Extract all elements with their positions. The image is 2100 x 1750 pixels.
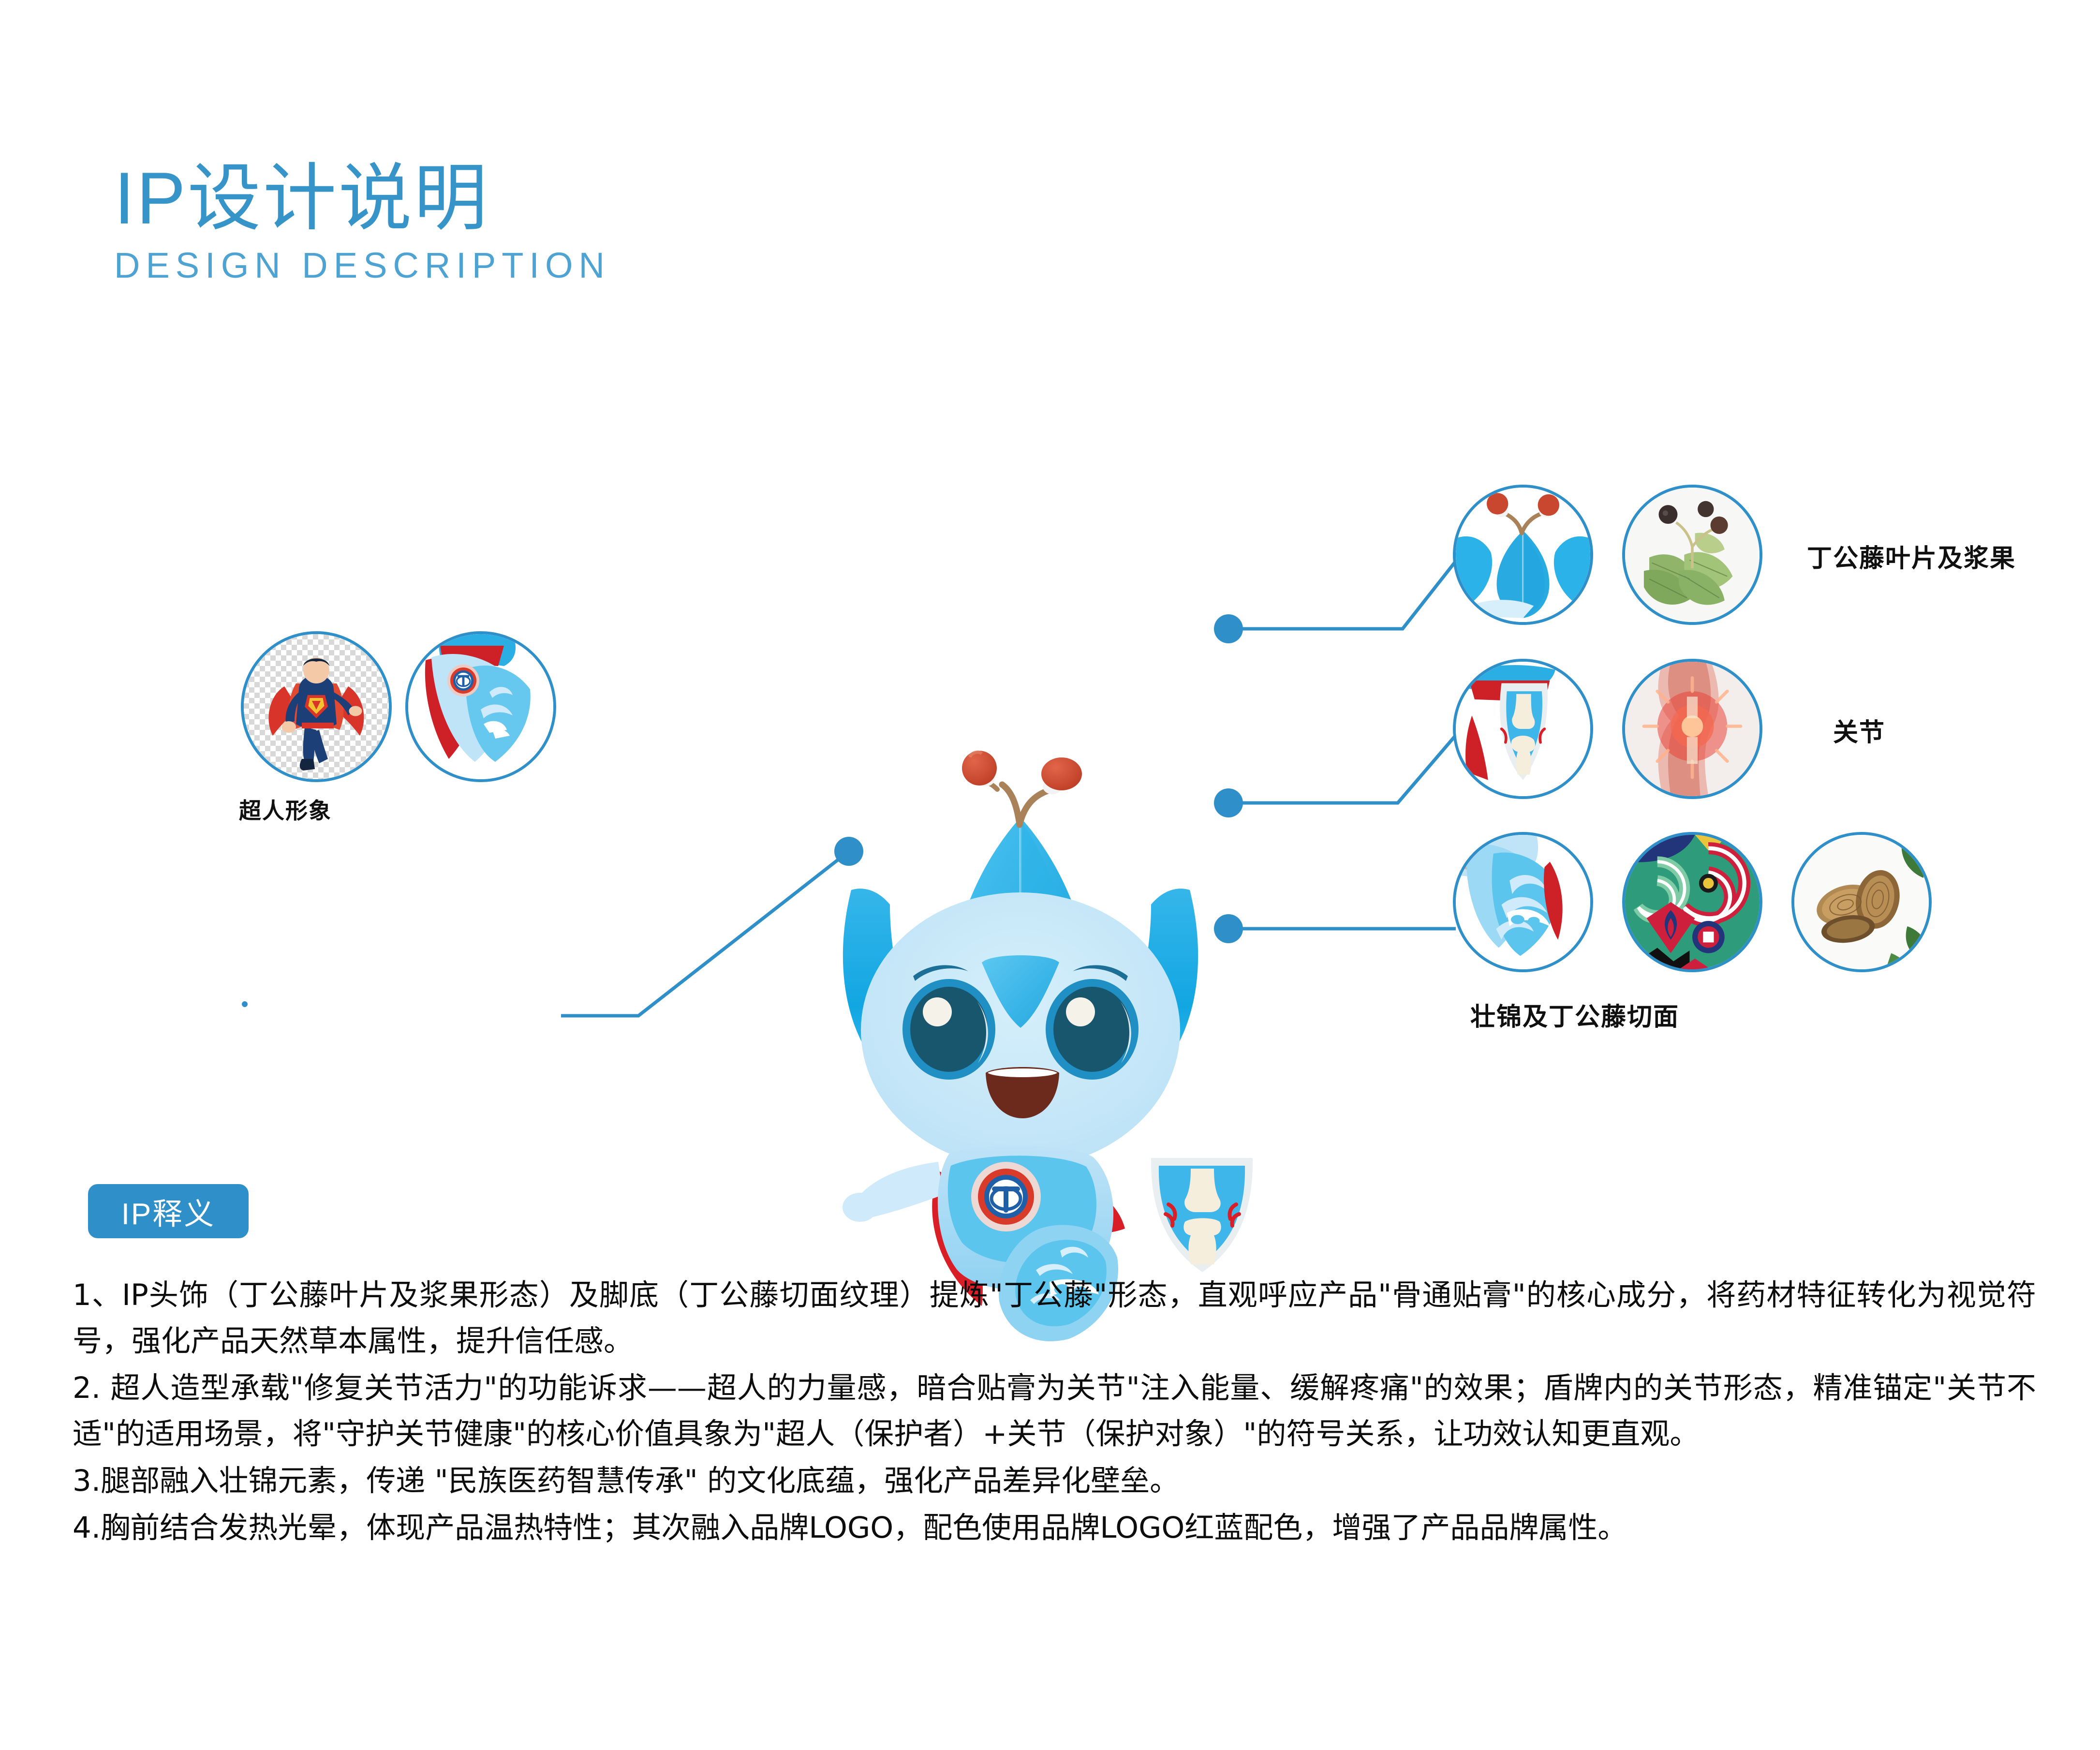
cape-logo-detail-illustration [408,634,553,779]
callout-label-superman: 超人形象 [239,793,332,825]
joint-pain-photo [1625,662,1760,796]
callout-photo-joint[interactable] [1622,659,1762,799]
page-subtitle: DESIGN DESCRIPTION [114,244,610,287]
callout-photo-brocade[interactable] [1622,832,1762,972]
design-description-page: IP设计说明 DESIGN DESCRIPTION [0,0,2100,1750]
page-title: IP设计说明 [114,160,610,237]
spacer [242,1001,248,1007]
superman-illustration [244,634,389,779]
ip-diagram-stage: 超人形象 [0,368,2100,1093]
joint-shield-detail-illustration [1456,662,1590,796]
callout-photo-herb-slices[interactable] [1791,832,1932,972]
erycibe-leaves-photo [1625,488,1760,622]
ip-explanation-text: 1、IP头饰（丁公藤叶片及浆果形态）及脚底（丁公藤切面纹理）提炼"丁公藤"形态，… [73,1272,2036,1552]
callout-mascot-joint-shield[interactable] [1453,659,1593,799]
callout-mascot-cape-detail[interactable] [405,631,556,782]
callout-mascot-headdress[interactable] [1453,485,1593,625]
callout-mascot-brocade-leg[interactable] [1453,832,1593,972]
callout-superman-reference[interactable] [241,631,392,782]
callout-label-brocade: 壮锦及丁公藤切面 [1470,996,1679,1033]
zhuang-brocade-photo [1625,835,1760,969]
erycibe-slices-photo [1794,835,1929,969]
ip-explanation-badge: IP释义 [88,1184,249,1238]
explanation-paragraph-1: 1、IP头饰（丁公藤叶片及浆果形态）及脚底（丁公藤切面纹理）提炼"丁公藤"形态，… [73,1272,2036,1364]
explanation-paragraph-4: 4.胸前结合发热光晕，体现产品温热特性；其次融入品牌LOGO，配色使用品牌LOG… [73,1505,2036,1551]
explanation-paragraph-2: 2. 超人造型承载"修复关节活力"的功能诉求——超人的力量感，暗合贴膏为关节"注… [73,1365,2036,1457]
headdress-detail-illustration [1456,488,1590,622]
page-header: IP设计说明 DESIGN DESCRIPTION [114,160,610,287]
callout-label-joint: 关节 [1833,712,1885,748]
explanation-paragraph-3: 3.腿部融入壮锦元素，传递 "民族医药智慧传承" 的文化底蕴，强化产品差异化壁垒… [73,1458,2036,1504]
callout-photo-erycibe-leaves[interactable] [1622,485,1762,625]
callout-label-leaves: 丁公藤叶片及浆果 [1807,538,2016,574]
brocade-leg-detail-illustration [1456,835,1590,969]
